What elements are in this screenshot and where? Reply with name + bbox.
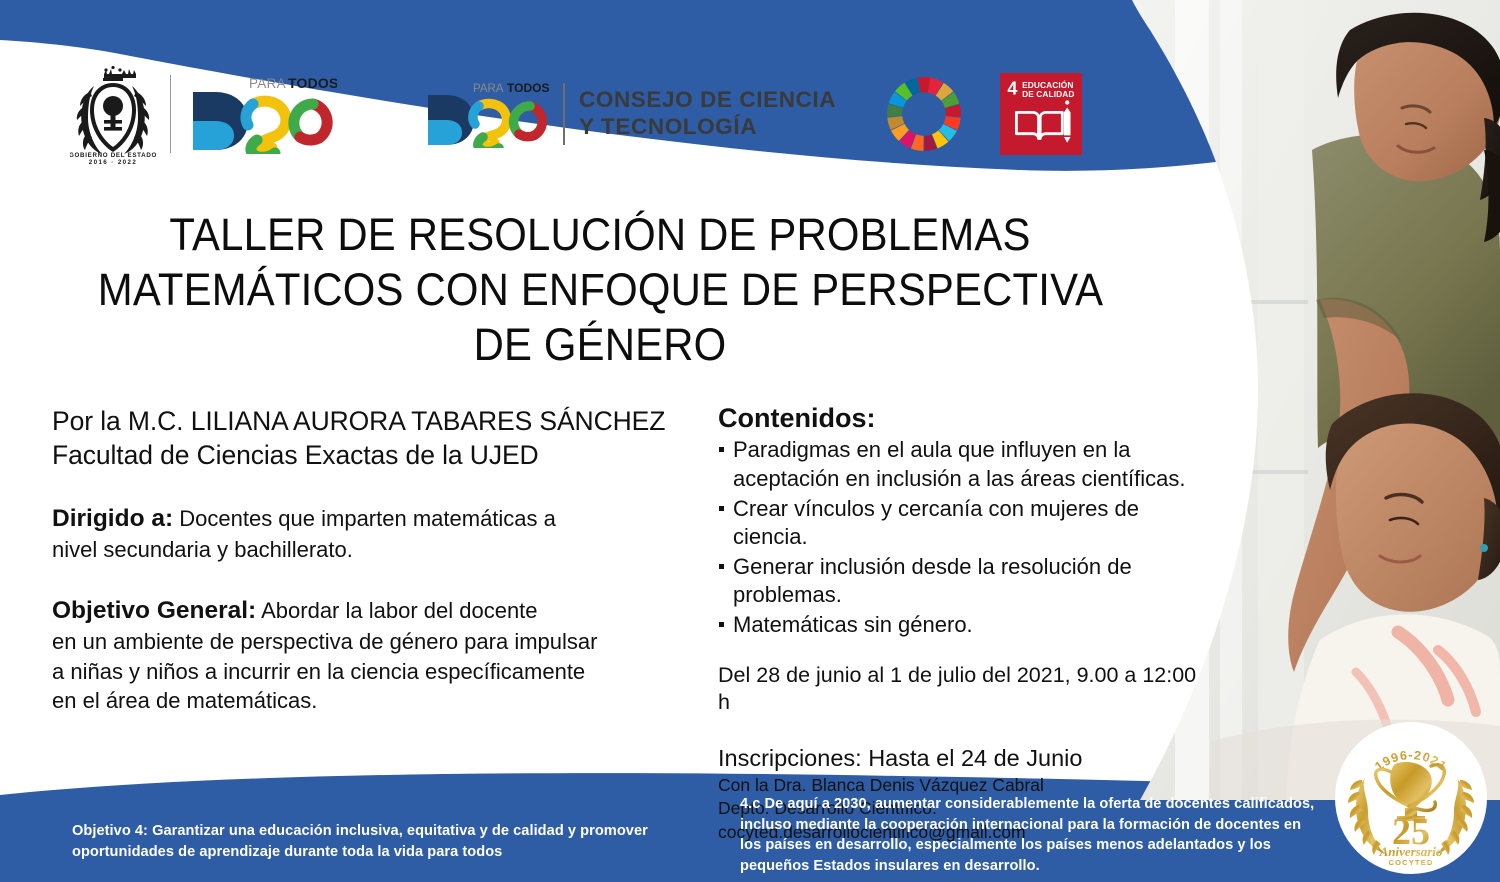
event-dates: Del 28 de junio al 1 de julio del 2021, …: [718, 662, 1208, 718]
gobierno-seal-icon: GOBIERNO DEL ESTADO 2016 · 2022: [70, 62, 156, 166]
presenter-affiliation: Facultad de Ciencias Exactas de la UJED: [52, 438, 692, 472]
svg-text:4: 4: [1007, 78, 1017, 98]
contenidos-list: Paradigmas en el aula que influyen en la…: [718, 436, 1208, 639]
objetivo-general-block: Objetivo General: Abordar la labor del d…: [52, 595, 692, 715]
svg-text:PARA: PARA: [249, 76, 286, 91]
dirigido-a-line-2: nivel secundaria y bachillerato.: [52, 535, 692, 564]
dirigido-a-block: Dirigido a: Docentes que imparten matemá…: [52, 503, 692, 565]
footer-objetivo-4-text: Objetivo 4: Garantizar una educación inc…: [72, 821, 692, 863]
svg-text:TODOS: TODOS: [288, 75, 337, 91]
svg-text:TODOS: TODOS: [507, 81, 549, 95]
presenter-block: Por la M.C. LILIANA AURORA TABARES SÁNCH…: [52, 404, 692, 473]
cocyted-logo-group: PARA TODOS CONSEJO DE CIENCIAY TECNOLOGÍ…: [423, 80, 836, 148]
title-line-2: MATEMÁTICOS CON ENFOQUE DE PERSPECTIVA: [98, 263, 1102, 318]
dgo-para-todos-logo-small: PARA TODOS: [423, 80, 551, 148]
dgo-para-todos-logo: PARA TODOS: [187, 74, 337, 154]
objetivo-line-1: Objetivo General: Abordar la labor del d…: [52, 595, 692, 628]
poster-canvas: GOBIERNO DEL ESTADO 2016 · 2022 PARA TOD…: [0, 0, 1500, 882]
svg-text:DE CALIDAD: DE CALIDAD: [1022, 89, 1074, 99]
title-line-3: DE GÉNERO: [98, 318, 1102, 373]
list-item: Generar inclusión desde la resolución de…: [718, 553, 1208, 610]
objetivo-line-2: en un ambiente de perspectiva de género …: [52, 627, 692, 656]
cocyted-line-1: CONSEJO DE CIENCIA: [579, 87, 836, 112]
page-title: TALLER DE RESOLUCIÓN DE PROBLEMAS MATEMÁ…: [98, 208, 1102, 373]
dirigido-a-label: Dirigido a:: [52, 505, 173, 532]
logo-divider: [170, 75, 171, 153]
cocyted-line-2: Y TECNOLOGÍA: [579, 114, 757, 139]
svg-text:PARA: PARA: [473, 83, 504, 95]
list-item: Crear vínculos y cercanía con mujeres de…: [718, 495, 1208, 552]
objetivo-text-1: Abordar la labor del docente: [256, 598, 537, 623]
sdg-goal-4-badge: 4 EDUCACIÓN DE CALIDAD: [1000, 73, 1082, 155]
cocyted-wordmark: CONSEJO DE CIENCIAY TECNOLOGÍA: [579, 87, 836, 140]
dirigido-a-line-1: Dirigido a: Docentes que imparten matemá…: [52, 503, 692, 536]
svg-text:2016 · 2022: 2016 · 2022: [89, 159, 137, 166]
list-item: Paradigmas en el aula que influyen en la…: [718, 436, 1208, 493]
right-content-column: Contenidos: Paradigmas en el aula que in…: [718, 402, 1208, 844]
left-content-column: Por la M.C. LILIANA AURORA TABARES SÁNCH…: [52, 404, 692, 715]
svg-text:Aniversario: Aniversario: [1379, 844, 1443, 859]
svg-text:COCYTED: COCYTED: [1388, 858, 1433, 867]
contenidos-heading: Contenidos:: [718, 402, 1208, 434]
list-item: Matemáticas sin género.: [718, 611, 1208, 640]
logo-bar: GOBIERNO DEL ESTADO 2016 · 2022 PARA TOD…: [70, 58, 1082, 170]
footer-target-4c-text: 4.c De aquí a 2030, aumentar considerabl…: [740, 794, 1320, 877]
svg-text:GOBIERNO DEL ESTADO: GOBIERNO DEL ESTADO: [70, 152, 156, 159]
cocyted-divider: [563, 83, 565, 145]
gobierno-del-estado-seal: GOBIERNO DEL ESTADO 2016 · 2022: [70, 62, 187, 166]
objetivo-line-3: a niñas y niños a incurrir en la ciencia…: [52, 657, 692, 686]
objetivo-line-4: en el área de matemáticas.: [52, 686, 692, 715]
presenter-name: Por la M.C. LILIANA AURORA TABARES SÁNCH…: [52, 404, 692, 438]
objetivo-label: Objetivo General:: [52, 597, 256, 624]
sdg-color-wheel-icon: [882, 72, 966, 156]
25-aniversario-cocyted-badge: 1996-2021: [1335, 722, 1487, 874]
inscripciones-heading: Inscripciones: Hasta el 24 de Junio: [718, 743, 1208, 774]
title-line-1: TALLER DE RESOLUCIÓN DE PROBLEMAS: [98, 208, 1102, 263]
dirigido-a-text-1: Docentes que imparten matemáticas a: [173, 506, 556, 531]
